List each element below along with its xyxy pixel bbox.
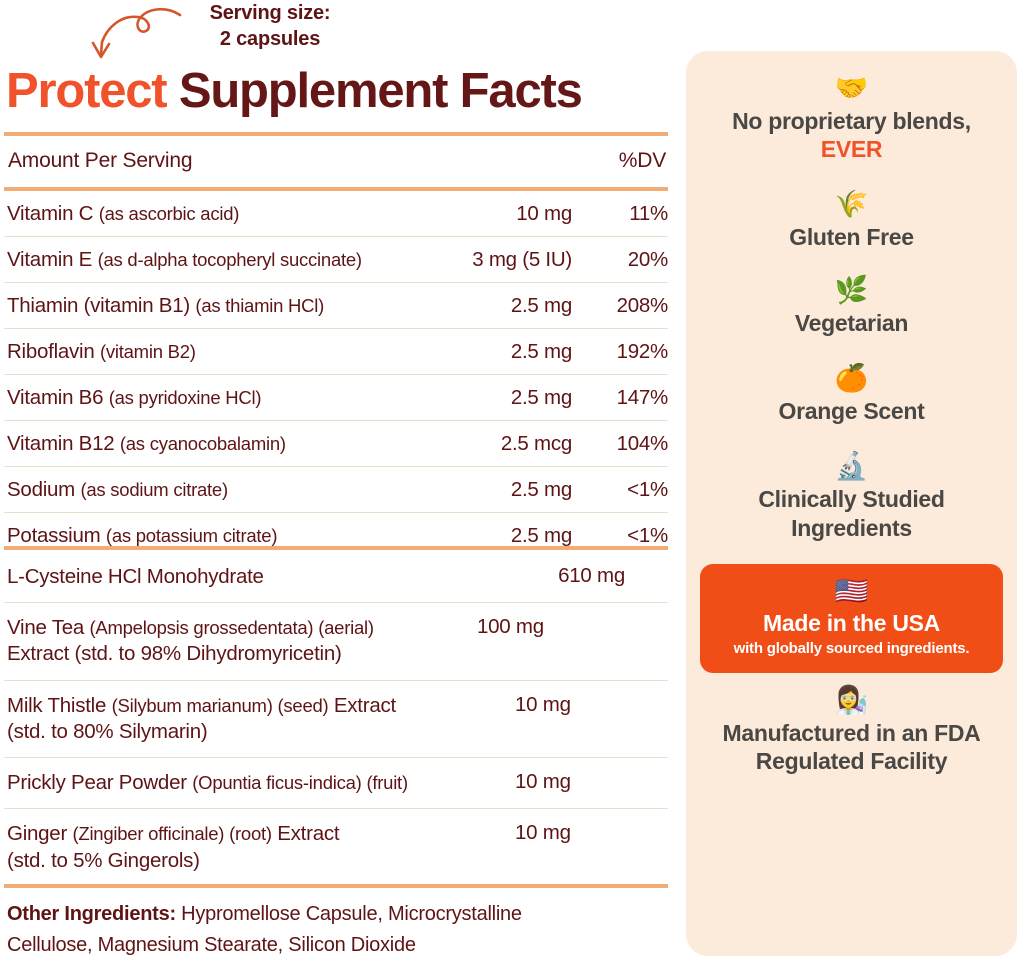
ingredient-amount: 2.5 mg [404,467,572,502]
herbal-ingredients-table: L-Cysteine HCl Monohydrate610 mgVine Tea… [4,552,668,886]
table-row: Milk Thistle (Silybum marianum) (seed) E… [4,681,668,757]
benefit-item: 🔬Clinically Studied Ingredients [700,451,1003,541]
amount-per-serving-label: Amount Per Serving [8,149,192,173]
ingredient-name-main: L-Cysteine HCl Monohydrate [7,565,264,588]
ingredient-name-main: Vitamin E [7,248,98,271]
ingredient-name-line2: (std. to 5% Gingerols) [7,849,200,872]
microscope-icon: 🔬 [700,451,1003,482]
ingredient-amount: 10 mg [515,681,625,717]
benefit-item: 🌾Gluten Free [700,189,1003,251]
table-row: Ginger (Zingiber officinale) (root) Extr… [4,809,668,885]
ingredient-name: Vitamin E (as d-alpha tocopheryl succina… [4,237,404,272]
benefit-item: 🇺🇸Made in the USAwith globally sourced i… [700,564,1003,673]
benefit-label-text: Made in the USA [763,610,940,636]
ingredient-name-detail: (as sodium citrate) [80,479,227,500]
ingredient-amount: 2.5 mg [404,375,572,410]
ingredient-daily-value: 20% [572,237,668,272]
ingredient-name-main: Potassium [7,524,106,547]
ingredient-name: Riboflavin (vitamin B2) [4,329,404,364]
benefit-sublabel: with globally sourced ingredients. [710,640,993,657]
herb-icon: 🌿 [700,275,1003,306]
table-row: Vine Tea (Ampelopsis grossedentata) (aer… [4,603,668,679]
benefit-label: Clinically Studied Ingredients [700,485,1003,541]
ingredient-name-detail: (Opuntia ficus-indica) (fruit) [192,772,408,793]
ingredient-amount: 100 mg [477,603,597,639]
benefit-label-accent: EVER [821,136,882,162]
ingredient-name-main: Vitamin C [7,202,99,225]
benefit-label: Manufactured in an FDA Regulated Facilit… [700,719,1003,775]
handshake-icon: 🤝 [700,73,1003,104]
ingredient-name-main: Riboflavin [7,340,100,363]
ingredient-amount: 2.5 mg [404,513,572,548]
ingredient-amount: 2.5 mcg [404,421,572,456]
benefit-label: Gluten Free [700,223,1003,251]
benefit-item: 👩‍🔬Manufactured in an FDA Regulated Faci… [700,685,1003,775]
benefit-label: No proprietary blends, EVER [700,107,1003,163]
benefit-label-text: Vegetarian [795,310,908,336]
ingredient-name-detail: (as potassium citrate) [106,525,277,546]
ingredient-name: Potassium (as potassium citrate) [4,513,404,548]
table-row: Vitamin C (as ascorbic acid)10 mg11% [4,191,668,236]
ingredient-name-main: Vitamin B6 [7,386,109,409]
ingredient-name: Ginger (Zingiber officinale) (root) Extr… [4,809,515,885]
ingredient-daily-value: 192% [572,329,668,364]
ingredient-name-main: Thiamin (vitamin B1) [7,294,195,317]
supplement-facts-panel: Serving size: 2 capsules Protect Supplem… [0,0,672,969]
serving-size-callout: Serving size: 2 capsules [170,0,370,53]
ingredient-name-main: Vine Tea [7,616,89,639]
benefit-item: 🤝No proprietary blends, EVER [700,73,1003,163]
ingredient-amount: 2.5 mg [404,283,572,318]
ingredient-name: Vitamin B12 (as cyanocobalamin) [4,421,404,456]
benefit-label: Made in the USA [710,609,993,637]
benefit-label: Orange Scent [700,397,1003,425]
title-product-name: Protect [6,64,166,118]
ingredient-name-main: Ginger [7,822,72,845]
ingredient-name: L-Cysteine HCl Monohydrate [4,552,505,602]
ingredient-amount: 10 mg [404,191,572,226]
ingredient-name-line2: (std. to 80% Silymarin) [7,720,207,743]
ingredient-daily-value: 11% [572,191,668,226]
page-title: Protect Supplement Facts [6,63,582,119]
ingredient-amount: 2.5 mg [404,329,572,364]
ingredient-name-detail: (as pyridoxine HCl) [109,387,262,408]
ingredient-name: Vitamin C (as ascorbic acid) [4,191,404,226]
tangerine-icon: 🍊 [700,363,1003,394]
ingredient-name-main: Milk Thistle [7,694,112,717]
table-row: Vitamin B12 (as cyanocobalamin)2.5 mcg10… [4,421,668,466]
divider-vitamins-bottom [4,546,668,550]
ingredient-name: Vitamin B6 (as pyridoxine HCl) [4,375,404,410]
serving-size-line2: 2 capsules [170,26,370,52]
divider-herbal-bottom [4,884,668,888]
ingredient-name-detail: (as d-alpha tocopheryl succinate) [98,249,362,270]
ingredient-name-detail: (as ascorbic acid) [99,203,239,224]
serving-size-line1: Serving size: [170,0,370,26]
ingredient-name-detail: (as cyanocobalamin) [120,433,286,454]
ingredient-name-main: Prickly Pear Powder [7,771,192,794]
ingredient-amount: 10 mg [515,809,625,845]
ingredient-daily-value: <1% [572,467,668,502]
table-row: Prickly Pear Powder (Opuntia ficus-indic… [4,758,668,808]
benefit-item: 🍊Orange Scent [700,363,1003,425]
table-row: Riboflavin (vitamin B2)2.5 mg192% [4,329,668,374]
benefits-panel: 🤝No proprietary blends, EVER🌾Gluten Free… [686,51,1017,956]
ingredient-name-main: Vitamin B12 [7,432,120,455]
benefit-label-text: Clinically Studied Ingredients [758,486,944,540]
benefit-label-text: Orange Scent [779,398,925,424]
table-row: Thiamin (vitamin B1) (as thiamin HCl)2.5… [4,283,668,328]
sheaf-of-rice-icon: 🌾 [700,189,1003,220]
ingredient-daily-value: 104% [572,421,668,456]
ingredient-name-line2: Extract (std. to 98% Dihydromyricetin) [7,642,342,665]
table-header-row: Amount Per Serving %DV [4,136,668,189]
benefit-label-text: Manufactured in an FDA Regulated Facilit… [723,720,981,774]
title-suffix: Supplement Facts [166,64,581,118]
ingredient-name-detail: (Silybum marianum) (seed) [112,695,329,716]
ingredient-name: Milk Thistle (Silybum marianum) (seed) E… [4,681,515,757]
ingredient-name-detail: (Ampelopsis grossedentata) (aerial) [89,617,373,638]
ingredient-name: Thiamin (vitamin B1) (as thiamin HCl) [4,283,404,318]
ingredient-name-tail: Extract [272,822,340,845]
ingredient-amount: 10 mg [515,758,625,794]
ingredient-name-main: Sodium [7,478,80,501]
benefit-label-text: Gluten Free [789,224,914,250]
ingredient-name-detail: (vitamin B2) [100,341,196,362]
ingredient-name-detail: (as thiamin HCl) [195,295,324,316]
other-ingredients-label: Other Ingredients: [7,903,176,925]
percent-dv-label: %DV [619,149,666,173]
ingredient-name-tail: Extract [328,694,396,717]
woman-scientist-icon: 👩‍🔬 [700,685,1003,716]
benefit-item: 🌿Vegetarian [700,275,1003,337]
ingredient-amount: 3 mg (5 IU) [404,237,572,272]
ingredient-daily-value: <1% [572,513,668,548]
ingredient-name-detail: (Zingiber officinale) (root) [72,823,271,844]
ingredient-name: Sodium (as sodium citrate) [4,467,404,502]
other-ingredients-text: Other Ingredients: Hypromellose Capsule,… [7,899,607,961]
ingredient-amount: 610 mg [505,552,625,588]
benefit-label-text: No proprietary blends, [732,108,971,134]
benefit-label: Vegetarian [700,309,1003,337]
ingredient-daily-value: 208% [572,283,668,318]
ingredient-daily-value: 147% [572,375,668,410]
table-row: L-Cysteine HCl Monohydrate610 mg [4,552,668,602]
table-row: Vitamin B6 (as pyridoxine HCl)2.5 mg147% [4,375,668,420]
table-row: Sodium (as sodium citrate)2.5 mg<1% [4,467,668,512]
us-flag-icon: 🇺🇸 [710,576,993,607]
ingredient-name: Prickly Pear Powder (Opuntia ficus-indic… [4,758,515,808]
table-row: Vitamin E (as d-alpha tocopheryl succina… [4,237,668,282]
ingredient-name: Vine Tea (Ampelopsis grossedentata) (aer… [4,603,477,679]
vitamins-table: Vitamin C (as ascorbic acid)10 mg11%Vita… [4,191,668,558]
